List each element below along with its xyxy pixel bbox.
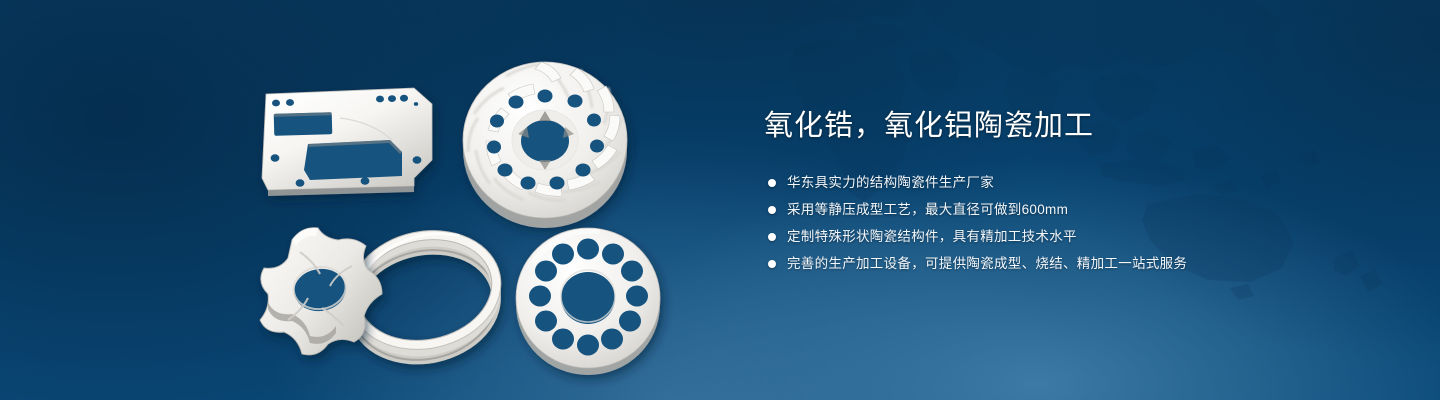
ceramic-plate-part (262, 88, 432, 196)
list-item-label: 采用等静压成型工艺，最大直径可做到600mm (787, 199, 1068, 221)
product-hero-banner: 氧化锆，氧化铝陶瓷加工 华东具实力的结构陶瓷件生产厂家 采用等静压成型工艺，最大… (0, 0, 1440, 400)
list-item-label: 完善的生产加工设备，可提供陶瓷成型、烧结、精加工一站式服务 (787, 253, 1187, 275)
bullet-dot-icon (768, 206, 776, 214)
ceramic-products-image (0, 0, 720, 400)
ceramic-perforated-ring-part (516, 228, 660, 375)
list-item: 定制特殊形状陶瓷结构件，具有精加工技术水平 (764, 226, 1384, 248)
list-item-label: 华东具实力的结构陶瓷件生产厂家 (787, 172, 994, 194)
banner-copy: 氧化锆，氧化铝陶瓷加工 华东具实力的结构陶瓷件生产厂家 采用等静压成型工艺，最大… (764, 106, 1384, 280)
bullet-dot-icon (768, 233, 776, 241)
list-item: 完善的生产加工设备，可提供陶瓷成型、烧结、精加工一站式服务 (764, 253, 1384, 275)
feature-list: 华东具实力的结构陶瓷件生产厂家 采用等静压成型工艺，最大直径可做到600mm 定… (764, 172, 1384, 275)
list-item-label: 定制特殊形状陶瓷结构件，具有精加工技术水平 (787, 226, 1077, 248)
ceramic-impeller-part (463, 62, 627, 228)
list-item: 华东具实力的结构陶瓷件生产厂家 (764, 172, 1384, 194)
page-title: 氧化锆，氧化铝陶瓷加工 (764, 106, 1384, 146)
bullet-dot-icon (768, 179, 776, 187)
bullet-dot-icon (768, 260, 776, 268)
list-item: 采用等静压成型工艺，最大直径可做到600mm (764, 199, 1384, 221)
